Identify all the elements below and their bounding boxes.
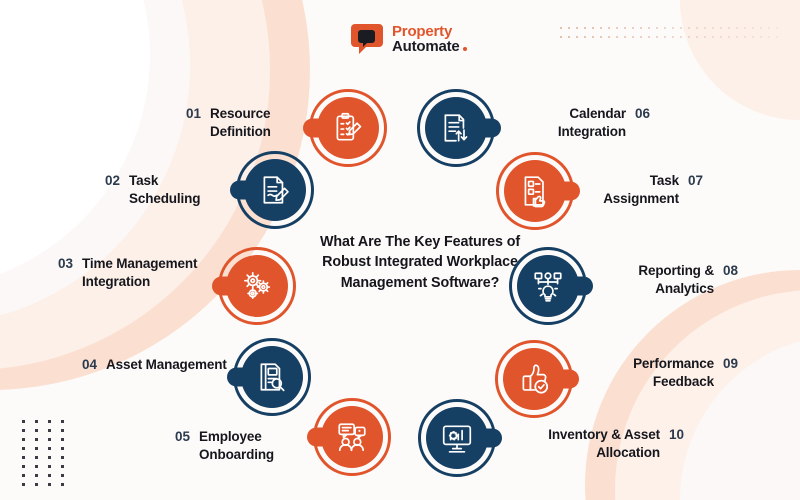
feature-number: 06 xyxy=(635,105,650,121)
brand-logo: Property Automate xyxy=(349,22,467,56)
feature-number: 04 xyxy=(82,356,97,372)
feature-number: 08 xyxy=(723,262,738,278)
brand-name-line2: Automate xyxy=(392,39,460,54)
lightbulb-analytics-icon xyxy=(531,269,565,303)
background-arc-top-right xyxy=(680,0,800,120)
task-document-hand-icon xyxy=(518,174,552,208)
feature-number: 01 xyxy=(186,105,201,121)
badge-core xyxy=(517,255,579,317)
feature-title: Task Scheduling xyxy=(129,172,230,208)
badge-core xyxy=(425,97,487,159)
badge-core xyxy=(504,160,566,222)
thumbs-up-check-icon xyxy=(517,362,551,396)
badge-core xyxy=(244,159,306,221)
monitor-chart-gear-icon xyxy=(440,421,474,455)
feature-title: Calendar Integration xyxy=(528,105,626,141)
feature-label-07[interactable]: 07Task Assignment xyxy=(578,172,703,208)
feature-badge-09[interactable] xyxy=(495,340,573,418)
feature-label-03[interactable]: 03Time Management Integration xyxy=(58,255,208,291)
feature-title: Inventory & Asset Allocation xyxy=(518,426,660,462)
page-title: What Are The Key Features of Robust Inte… xyxy=(296,232,544,293)
brand-dot-icon xyxy=(463,47,467,51)
people-chat-icon xyxy=(335,420,369,454)
feature-label-01[interactable]: 01Resource Definition xyxy=(186,105,306,141)
clipboard-checklist-pencil-icon xyxy=(331,111,365,145)
feature-number: 05 xyxy=(175,428,190,444)
speech-bubble-logo-icon xyxy=(349,22,385,56)
badge-core xyxy=(503,348,565,410)
dot-grid-top-right xyxy=(560,27,778,47)
feature-number: 10 xyxy=(669,426,684,442)
badge-core xyxy=(241,346,303,408)
document-magnifier-icon xyxy=(255,360,289,394)
feature-label-10[interactable]: 10Inventory & Asset Allocation xyxy=(518,426,684,462)
feature-number: 03 xyxy=(58,255,73,271)
feature-title: Employee Onboarding xyxy=(199,428,325,464)
feature-badge-06[interactable] xyxy=(417,89,495,167)
document-pencil-icon xyxy=(258,173,292,207)
feature-badge-01[interactable] xyxy=(309,89,387,167)
feature-badge-04[interactable] xyxy=(233,338,311,416)
feature-title: Performance Feedback xyxy=(588,355,714,391)
gears-icon xyxy=(240,269,274,303)
badge-core xyxy=(321,406,383,468)
feature-number: 07 xyxy=(688,172,703,188)
feature-number: 02 xyxy=(105,172,120,188)
feature-title: Resource Definition xyxy=(210,105,306,141)
infographic-canvas: Property Automate What Are The Key Featu… xyxy=(0,0,800,500)
feature-badge-02[interactable] xyxy=(236,151,314,229)
feature-number: 09 xyxy=(723,355,738,371)
document-sort-icon xyxy=(439,111,473,145)
badge-core xyxy=(317,97,379,159)
badge-core xyxy=(226,255,288,317)
feature-label-02[interactable]: 02Task Scheduling xyxy=(105,172,230,208)
feature-label-05[interactable]: 05Employee Onboarding xyxy=(175,428,325,464)
feature-label-08[interactable]: 08Reporting & Analytics xyxy=(608,262,738,298)
feature-badge-08[interactable] xyxy=(509,247,587,325)
feature-title: Reporting & Analytics xyxy=(608,262,714,298)
feature-label-04[interactable]: 04Asset Management xyxy=(82,356,230,374)
feature-label-09[interactable]: 09Performance Feedback xyxy=(588,355,738,391)
feature-badge-07[interactable] xyxy=(496,152,574,230)
feature-badge-10[interactable] xyxy=(418,399,496,477)
feature-title: Task Assignment xyxy=(578,172,679,208)
feature-label-06[interactable]: 06Calendar Integration xyxy=(528,105,650,141)
brand-name-line1: Property xyxy=(392,24,467,39)
feature-title: Time Management Integration xyxy=(82,255,208,291)
dot-grid-bottom-left xyxy=(22,420,78,488)
feature-badge-03[interactable] xyxy=(218,247,296,325)
badge-core xyxy=(426,407,488,469)
feature-title: Asset Management xyxy=(106,356,227,374)
